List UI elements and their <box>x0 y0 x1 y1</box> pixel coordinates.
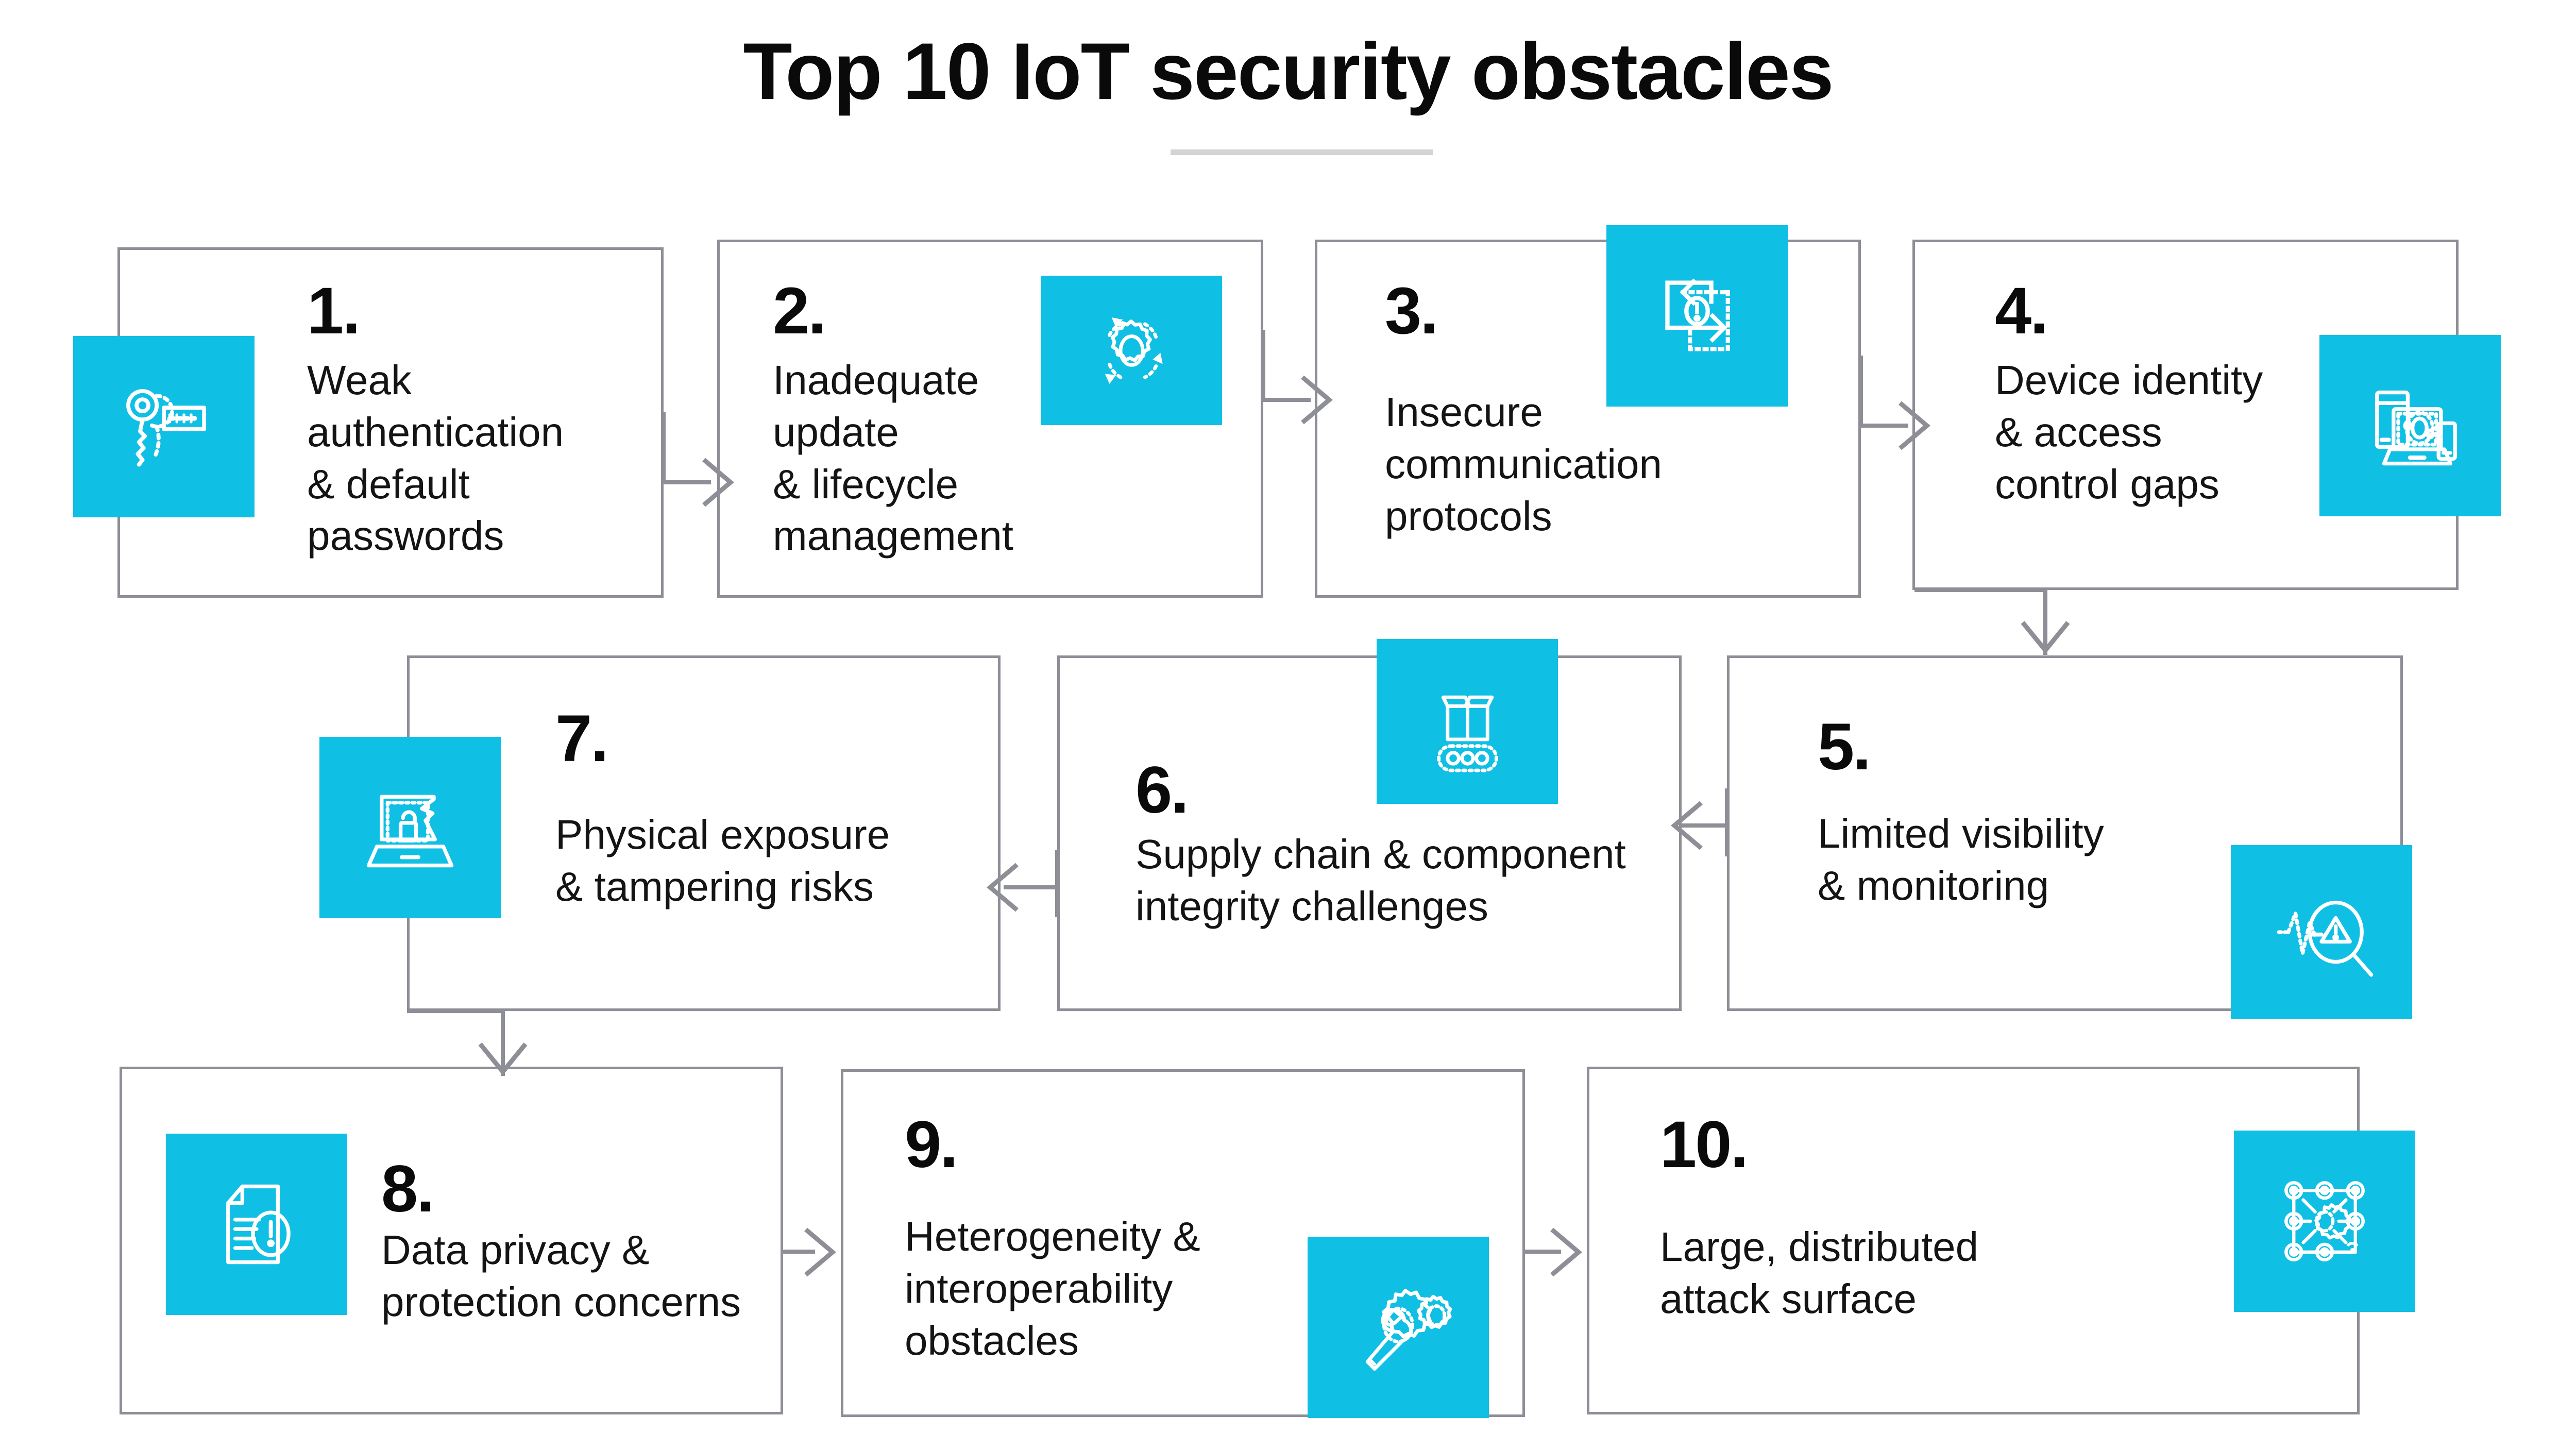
icon-tile-4 <box>2319 335 2501 516</box>
obstacle-number-6: 6. <box>1136 757 1188 823</box>
title-divider <box>1171 149 1433 155</box>
obstacle-number-7: 7. <box>555 706 607 772</box>
obstacle-label-10: Large, distributed attack surface <box>1660 1221 1978 1325</box>
document-alert-icon <box>197 1165 316 1284</box>
icon-tile-8 <box>166 1134 347 1315</box>
obstacle-number-1: 1. <box>307 278 359 344</box>
icon-tile-7 <box>319 737 501 918</box>
obstacle-label-6: Supply chain & component integrity chall… <box>1136 829 1626 933</box>
icon-tile-2 <box>1041 276 1222 425</box>
broken-laptop-unlock-icon <box>351 768 469 887</box>
connector-3-4-horizontal <box>1859 424 1908 428</box>
magnifier-pulse-alert-icon <box>2262 873 2381 991</box>
obstacle-number-3: 3. <box>1385 278 1437 344</box>
gear-refresh-cycle-icon <box>1076 295 1187 406</box>
obstacle-number-2: 2. <box>773 278 825 344</box>
connector-5-6-horizontal <box>1682 823 1728 828</box>
obstacle-label-7: Physical exposure & tampering risks <box>555 809 890 913</box>
package-conveyor-icon <box>1412 666 1523 777</box>
multi-device-fingerprint-icon <box>2351 366 2469 485</box>
icon-tile-5 <box>2231 845 2412 1019</box>
obstacle-label-2: Inadequate update & lifecycle management <box>773 355 1013 562</box>
connector-4-5-vertical <box>2043 588 2047 655</box>
connector-2-3-vertical <box>1261 330 1265 402</box>
connector-7-8-vertical <box>501 1009 505 1076</box>
obstacle-label-5: Limited visibility & monitoring <box>1818 808 2104 912</box>
network-mesh-icon <box>2265 1162 2384 1280</box>
obstacle-number-10: 10. <box>1660 1112 1747 1178</box>
icon-tile-1 <box>73 336 255 517</box>
obstacle-label-1: Weak authentication & default passwords <box>307 355 564 562</box>
connector-3-4-vertical <box>1859 356 1863 428</box>
connector-9-10-horizontal <box>1523 1250 1561 1254</box>
obstacle-label-8: Data privacy & protection concerns <box>381 1224 741 1328</box>
connector-1-2-horizontal <box>662 480 711 484</box>
wrench-gears-icon <box>1339 1268 1458 1387</box>
connector-8-9-horizontal <box>781 1250 815 1254</box>
connector-6-7-vertical <box>1055 850 1059 917</box>
obstacle-number-8: 8. <box>381 1156 433 1222</box>
obstacle-number-4: 4. <box>1995 278 2047 344</box>
connector-1-2-vertical <box>662 412 666 484</box>
icon-tile-6 <box>1377 639 1558 804</box>
connector-5-6-vertical <box>1725 788 1729 856</box>
connector-2-3-horizontal <box>1261 398 1311 402</box>
icon-tile-9 <box>1308 1237 1489 1418</box>
connector-6-7-horizontal <box>1004 885 1058 889</box>
obstacle-number-5: 5. <box>1818 714 1870 780</box>
key-password-icon <box>105 367 223 486</box>
obstacle-label-3: Insecure communication protocols <box>1385 386 1662 542</box>
page-title: Top 10 IoT security obstacles <box>0 30 2576 114</box>
obstacle-label-9: Heterogeneity & interoperability obstacl… <box>905 1211 1200 1367</box>
infographic-canvas: Top 10 IoT security obstacles <box>0 0 2576 1449</box>
icon-tile-3 <box>1606 225 1788 407</box>
connector-4-5-horizontal <box>1914 588 2047 592</box>
obstacle-label-4: Device identity & access control gaps <box>1995 355 2263 510</box>
obstacle-number-9: 9. <box>905 1112 957 1178</box>
data-exchange-alert-icon <box>1638 257 1756 375</box>
icon-tile-10 <box>2234 1131 2415 1312</box>
connector-7-8-horizontal <box>407 1009 505 1013</box>
